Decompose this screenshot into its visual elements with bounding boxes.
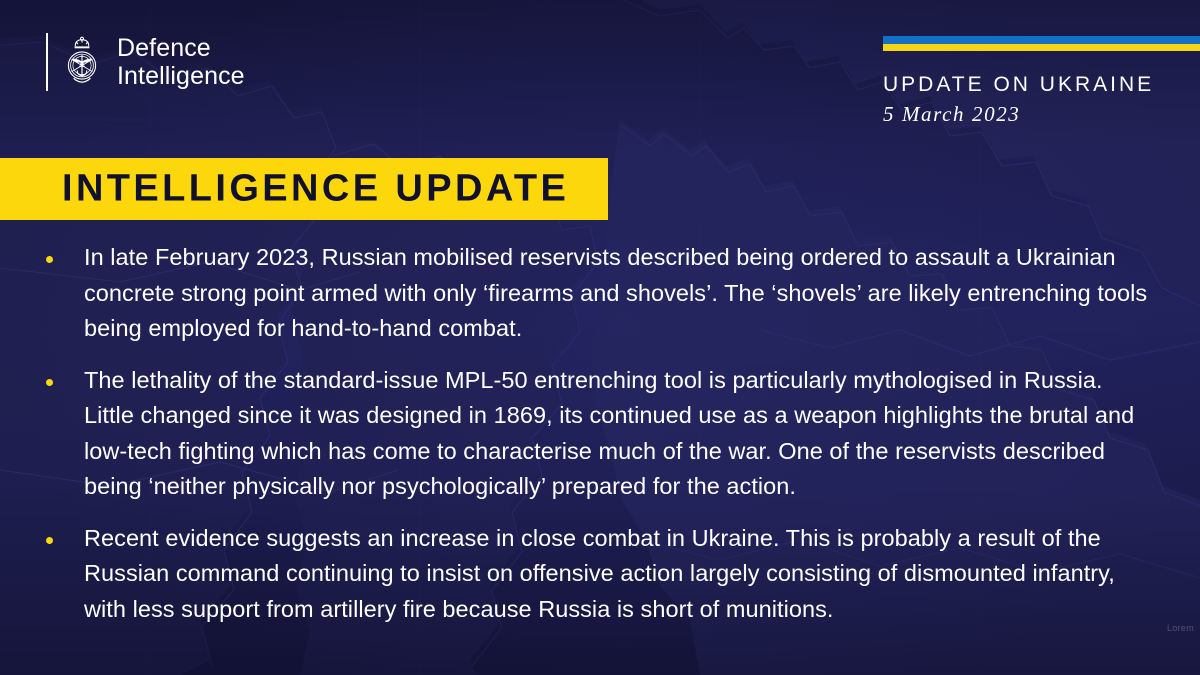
- bullet-text: The lethality of the standard-issue MPL-…: [84, 363, 1156, 505]
- ukraine-flag-bar-icon: [883, 36, 1200, 51]
- mod-defence-intelligence-crest-icon: [60, 34, 104, 90]
- list-item: Recent evidence suggests an increase in …: [0, 521, 1200, 628]
- watermark-text: Lorem: [1167, 623, 1194, 633]
- update-header-block: UPDATE ON UKRAINE 5 March 2023: [883, 72, 1200, 128]
- intelligence-update-banner: INTELLIGENCE UPDATE: [0, 158, 608, 220]
- bullet-text: Recent evidence suggests an increase in …: [84, 521, 1156, 628]
- intelligence-update-graphic: Defence Intelligence UPDATE ON UKRAINE 5…: [0, 0, 1200, 675]
- brand-line-intelligence: Intelligence: [117, 62, 245, 90]
- banner-label: INTELLIGENCE UPDATE: [62, 168, 569, 211]
- brand-line-defence: Defence: [117, 34, 245, 62]
- header: Defence Intelligence UPDATE ON UKRAINE 5…: [0, 0, 1200, 150]
- update-title: UPDATE ON UKRAINE: [883, 72, 1200, 98]
- list-item: In late February 2023, Russian mobilised…: [0, 240, 1200, 347]
- flag-stripe-yellow: [883, 44, 1200, 51]
- defence-intelligence-logo: Defence Intelligence: [46, 33, 245, 91]
- bullet-dot-icon: [46, 256, 53, 263]
- update-date: 5 March 2023: [883, 100, 1200, 128]
- bullet-dot-icon: [46, 537, 53, 544]
- list-item: The lethality of the standard-issue MPL-…: [0, 363, 1200, 505]
- brand-wordmark: Defence Intelligence: [117, 34, 245, 90]
- bullet-text: In late February 2023, Russian mobilised…: [84, 240, 1156, 347]
- bullet-list: In late February 2023, Russian mobilised…: [0, 240, 1200, 643]
- flag-stripe-blue: [883, 36, 1200, 44]
- logo-divider-rule: [46, 33, 48, 91]
- bullet-dot-icon: [46, 379, 53, 386]
